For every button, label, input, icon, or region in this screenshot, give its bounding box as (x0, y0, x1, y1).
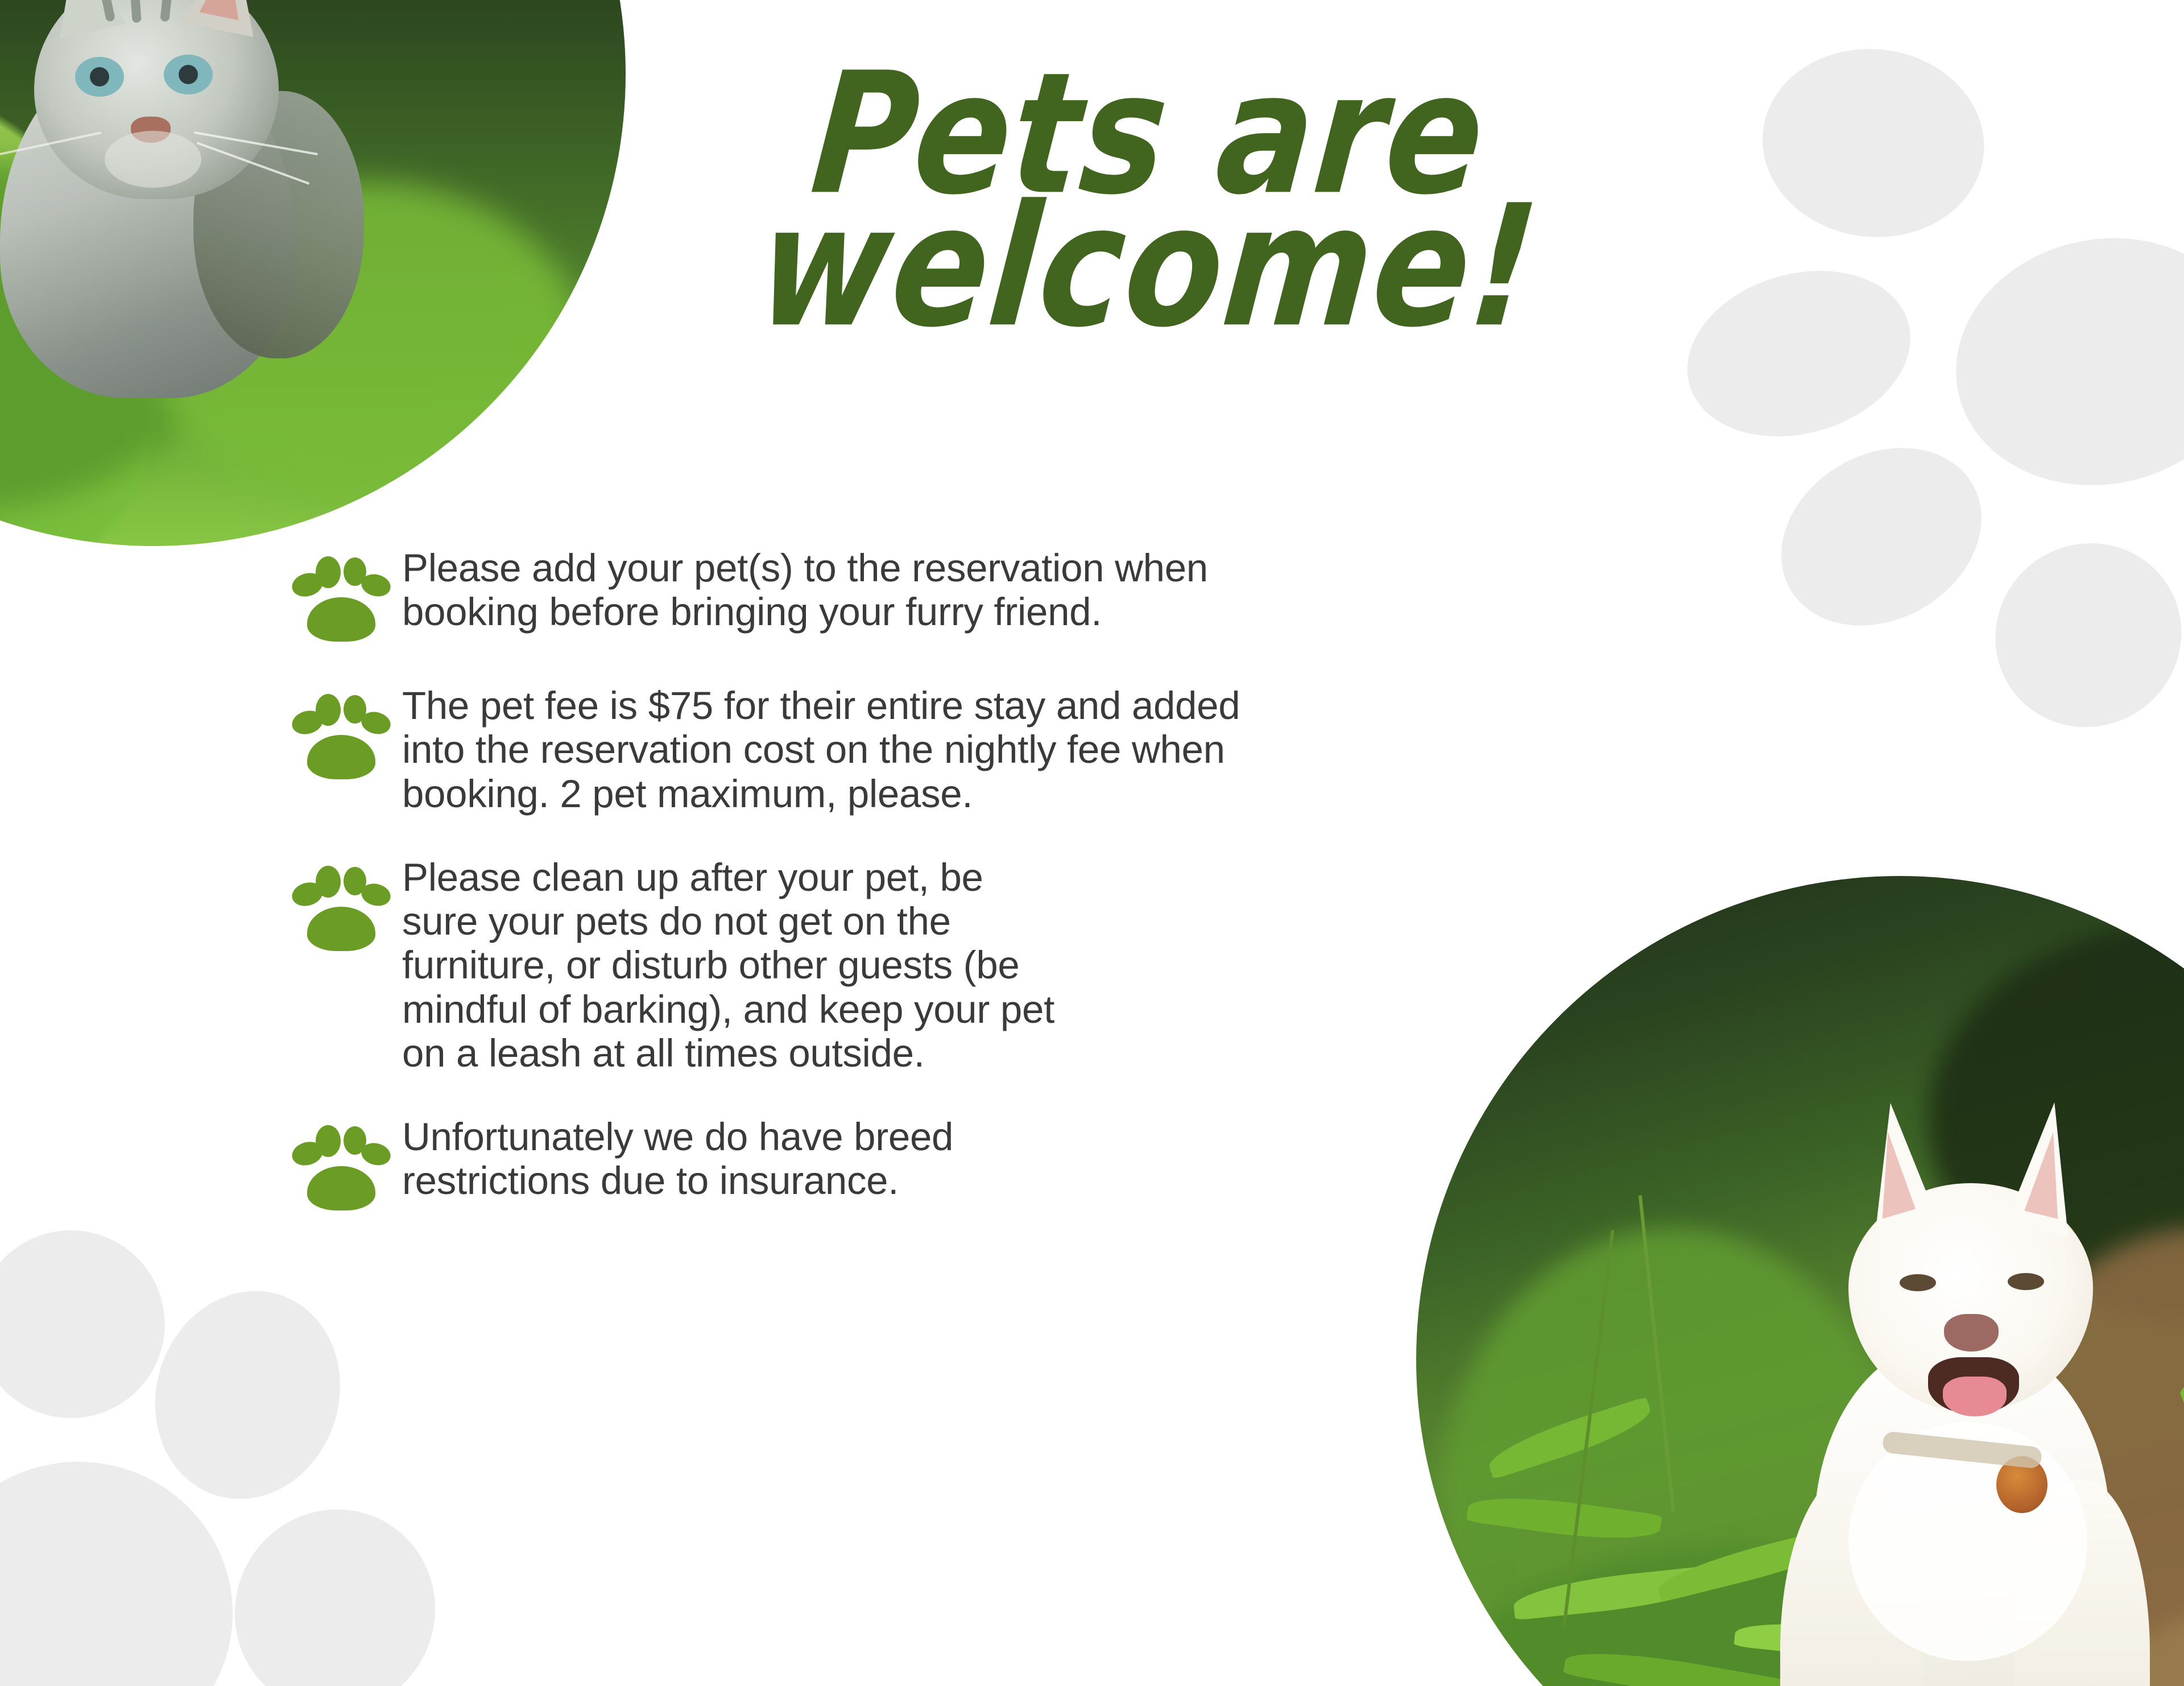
dog-nose (1944, 1314, 1999, 1352)
paw-toe (316, 556, 341, 588)
list-item-text: The pet fee is $75 for their entire stay… (390, 684, 1240, 816)
pet-policy-list: Please add your pet(s) to the reservatio… (284, 546, 1820, 1213)
kitten-eye-right (164, 55, 213, 94)
kitten-muzzle (105, 131, 201, 188)
kitten-eye-left (75, 57, 124, 97)
paw-pad (0, 1442, 252, 1686)
list-item-text: Unfortunately we do have breed restricti… (390, 1115, 953, 1203)
list-item: The pet fee is $75 for their entire stay… (284, 684, 1820, 816)
poster-canvas: Pets are welcome! Please add your pet(s)… (0, 0, 2184, 1686)
paw-toe (199, 1474, 471, 1686)
list-item: Unfortunately we do have breed restricti… (284, 1115, 1820, 1213)
paw-pad (307, 1166, 375, 1210)
paw-pad (307, 735, 375, 779)
paw-print-icon (284, 1122, 390, 1213)
kitten-photo (0, 0, 626, 546)
paw-pad (307, 907, 375, 951)
paw-toe (1668, 246, 1930, 461)
list-item: Please clean up after your pet, be sure … (284, 856, 1820, 1075)
paw-pad (307, 597, 375, 642)
paw-print-icon (284, 691, 390, 782)
title-line-2: welcome! (664, 189, 1633, 345)
dog-tongue (1943, 1377, 2007, 1416)
list-item-text: Please clean up after your pet, be sure … (390, 856, 1054, 1075)
list-item-text: Please add your pet(s) to the reservatio… (390, 546, 1208, 634)
paw-toe (129, 1267, 367, 1523)
page-title: Pets are welcome! (671, 68, 1627, 333)
paw-toe (316, 1125, 341, 1157)
paw-toe (0, 1221, 174, 1428)
paw-toe (1960, 507, 2184, 763)
paw-watermark-bottom-left-icon (0, 1204, 522, 1686)
list-item: Please add your pet(s) to the reservatio… (284, 546, 1820, 644)
paw-toe (1753, 38, 1993, 248)
paw-toe (316, 694, 341, 726)
paw-print-icon (284, 862, 390, 953)
dog-eye-right (2008, 1273, 2044, 1290)
paw-pad (1933, 212, 2184, 513)
paw-print-icon (284, 553, 390, 644)
paw-toe (316, 866, 341, 898)
dog-eye-left (1900, 1274, 1936, 1291)
